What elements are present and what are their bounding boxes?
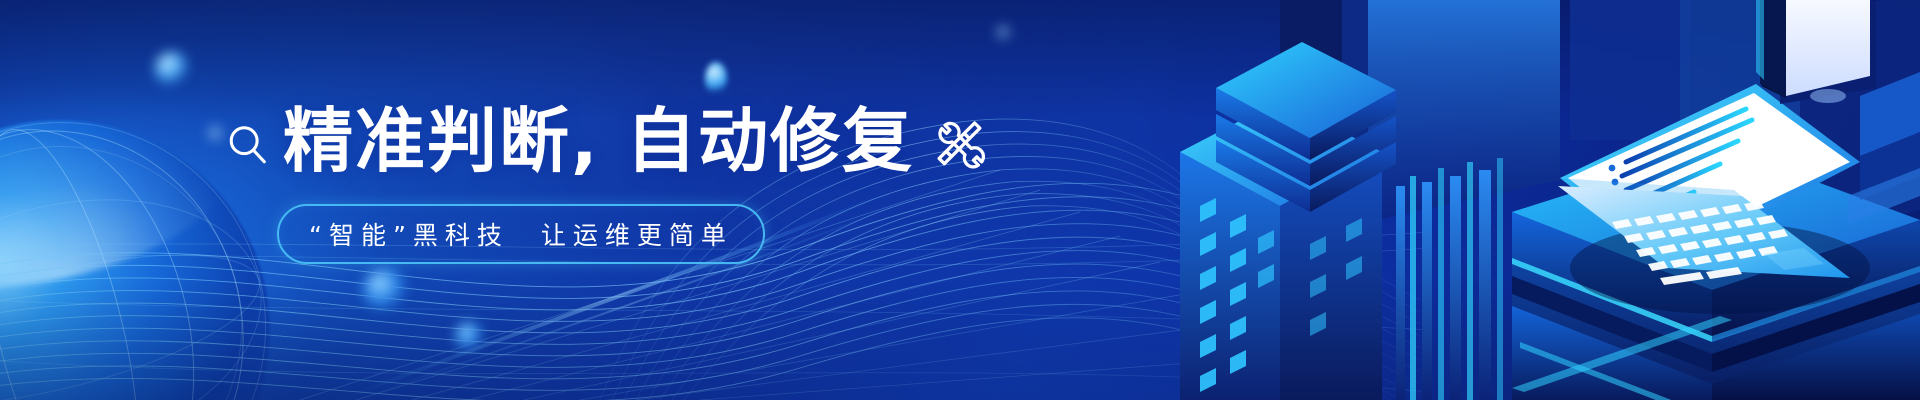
light-particle [155, 52, 189, 86]
light-particle [705, 62, 727, 96]
search-icon [225, 122, 271, 168]
light-particle [995, 24, 1011, 40]
light-particle [206, 124, 224, 142]
wrench-screwdriver-icon [932, 117, 986, 171]
subtitle-text: “智能”黑科技 让运维更简单 [309, 216, 733, 252]
promo-banner: 精准判断, 自动修复 “智能”黑科技 让运维更简单 [0, 0, 1920, 400]
isometric-illustration [1160, 0, 1920, 400]
light-particle [455, 322, 483, 350]
headline-row: 精准判断, 自动修复 [225, 98, 1045, 184]
light-particle [363, 268, 407, 312]
isometric-tablet [1756, 0, 1876, 104]
page-title: 精准判断, 自动修复 [283, 100, 914, 182]
subtitle-pill: “智能”黑科技 让运维更简单 [277, 204, 765, 264]
copy-block: 精准判断, 自动修复 “智能”黑科技 让运维更简单 [225, 98, 1045, 264]
